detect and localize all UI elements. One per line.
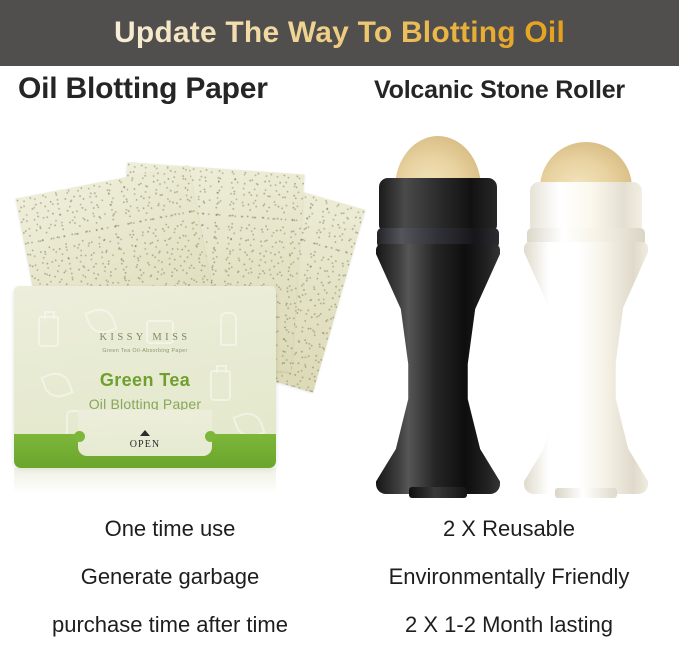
comparison-line: 2 X Reusable	[339, 505, 679, 553]
blotting-paper-package: KISSY MISS Green Tea Oil-Absorbing Paper…	[14, 286, 276, 468]
package-reflection	[14, 468, 276, 494]
roller-body	[524, 242, 648, 494]
comparison-text: One time use Generate garbage purchase t…	[0, 505, 679, 651]
roller-base-foot	[555, 488, 617, 498]
black-volcanic-stone-roller	[362, 128, 514, 500]
header-banner: Update The Way To Blotting Oil	[0, 0, 679, 66]
comparison-line: Generate garbage	[0, 553, 340, 601]
comparison-line: 2 X 1-2 Month lasting	[339, 601, 679, 649]
header-title: Update The Way To Blotting Oil	[114, 16, 565, 50]
package-product-title: Green Tea	[14, 370, 276, 391]
triangle-up-icon	[140, 430, 150, 436]
roller-collar	[530, 182, 642, 232]
heading-volcanic-stone-roller: Volcanic Stone Roller	[374, 76, 674, 105]
roller-body	[376, 244, 500, 494]
comparison-column-blotting-paper: One time use Generate garbage purchase t…	[0, 505, 340, 651]
roller-base-foot	[409, 487, 467, 498]
heading-oil-blotting-paper: Oil Blotting Paper	[18, 72, 348, 106]
comparison-line: purchase time after time	[0, 601, 340, 649]
package-brand-name: KISSY MISS	[14, 332, 276, 343]
section-headings: Oil Blotting Paper Volcanic Stone Roller	[0, 72, 679, 124]
comparison-line: Environmentally Friendly	[339, 553, 679, 601]
roller-collar	[379, 178, 497, 232]
package-brand-subtitle: Green Tea Oil-Absorbing Paper	[14, 348, 276, 354]
package-open-tab: OPEN	[78, 410, 212, 456]
white-volcanic-stone-roller	[510, 128, 662, 500]
comparison-line: One time use	[0, 505, 340, 553]
package-open-label: OPEN	[78, 439, 212, 450]
comparison-column-stone-roller: 2 X Reusable Environmentally Friendly 2 …	[339, 505, 679, 651]
blotting-paper-product-image: KISSY MISS Green Tea Oil-Absorbing Paper…	[0, 128, 352, 500]
volcanic-stone-roller-product-image	[352, 128, 679, 500]
